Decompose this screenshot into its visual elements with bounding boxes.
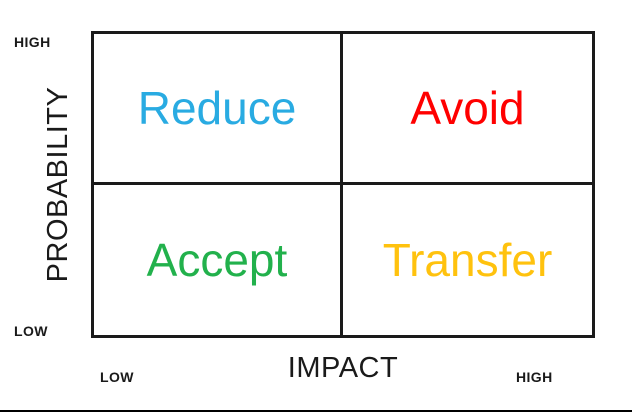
- quadrant-accept-label: Accept: [147, 237, 288, 283]
- quadrant-avoid[interactable]: Avoid: [343, 34, 592, 185]
- page-bottom-rule: [0, 410, 632, 412]
- quadrant-transfer-label: Transfer: [383, 237, 553, 283]
- quadrant-reduce-label: Reduce: [138, 85, 297, 131]
- x-axis-tick-low: LOW: [100, 369, 134, 385]
- quadrant-avoid-label: Avoid: [410, 85, 524, 131]
- y-axis-title: PROBABILITY: [38, 31, 78, 338]
- risk-matrix-diagram: HIGH LOW PROBABILITY Reduce Avoid Accept…: [0, 0, 632, 418]
- x-axis-tick-high: HIGH: [516, 369, 553, 385]
- matrix-grid: Reduce Avoid Accept Transfer: [91, 31, 595, 338]
- quadrant-reduce[interactable]: Reduce: [94, 34, 343, 185]
- quadrant-transfer[interactable]: Transfer: [343, 185, 592, 336]
- quadrant-accept[interactable]: Accept: [94, 185, 343, 336]
